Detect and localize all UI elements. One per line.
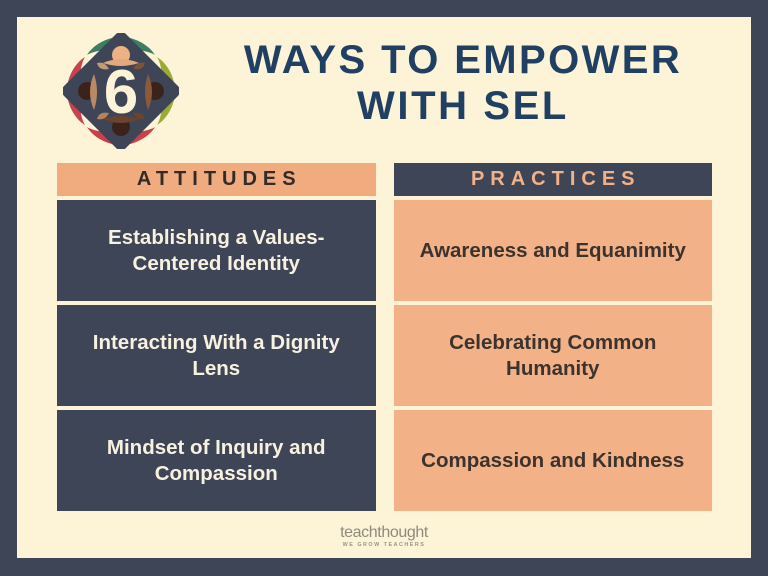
- teachthought-logo: teachthought: [340, 524, 428, 541]
- brand-part-2: thought: [377, 524, 428, 541]
- list-item: Celebrating Common Humanity: [394, 305, 713, 406]
- column-attitudes: ATTITUDES Establishing a Values-Centered…: [57, 163, 376, 511]
- list-item: Compassion and Kindness: [394, 410, 713, 511]
- poster-header: 6 WAYS TO EMPOWER WITH SEL: [17, 17, 751, 163]
- brand-tagline: WE GROW TEACHERS: [343, 542, 426, 548]
- poster-title: WAYS TO EMPOWER WITH SEL: [177, 37, 749, 129]
- title-line-1: WAYS TO EMPOWER: [177, 37, 749, 83]
- column-header-practices: PRACTICES: [394, 163, 713, 196]
- list-item: Establishing a Values-Centered Identity: [57, 200, 376, 301]
- title-line-2: WITH SEL: [177, 83, 749, 129]
- column-header-attitudes: ATTITUDES: [57, 163, 376, 196]
- poster-canvas: 6 WAYS TO EMPOWER WITH SEL ATTITUDES Est…: [17, 17, 751, 558]
- poster-footer: teachthought WE GROW TEACHERS: [17, 524, 751, 548]
- logo-number: 6: [104, 58, 138, 127]
- brand-part-1: teach: [340, 524, 377, 541]
- list-item: Mindset of Inquiry and Compassion: [57, 410, 376, 511]
- list-item: Awareness and Equanimity: [394, 200, 713, 301]
- poster-frame: 6 WAYS TO EMPOWER WITH SEL ATTITUDES Est…: [0, 0, 768, 576]
- six-people-diamond-logo: 6: [63, 33, 179, 149]
- column-practices: PRACTICES Awareness and Equanimity Celeb…: [394, 163, 713, 511]
- content-columns: ATTITUDES Establishing a Values-Centered…: [57, 163, 712, 511]
- list-item: Interacting With a Dignity Lens: [57, 305, 376, 406]
